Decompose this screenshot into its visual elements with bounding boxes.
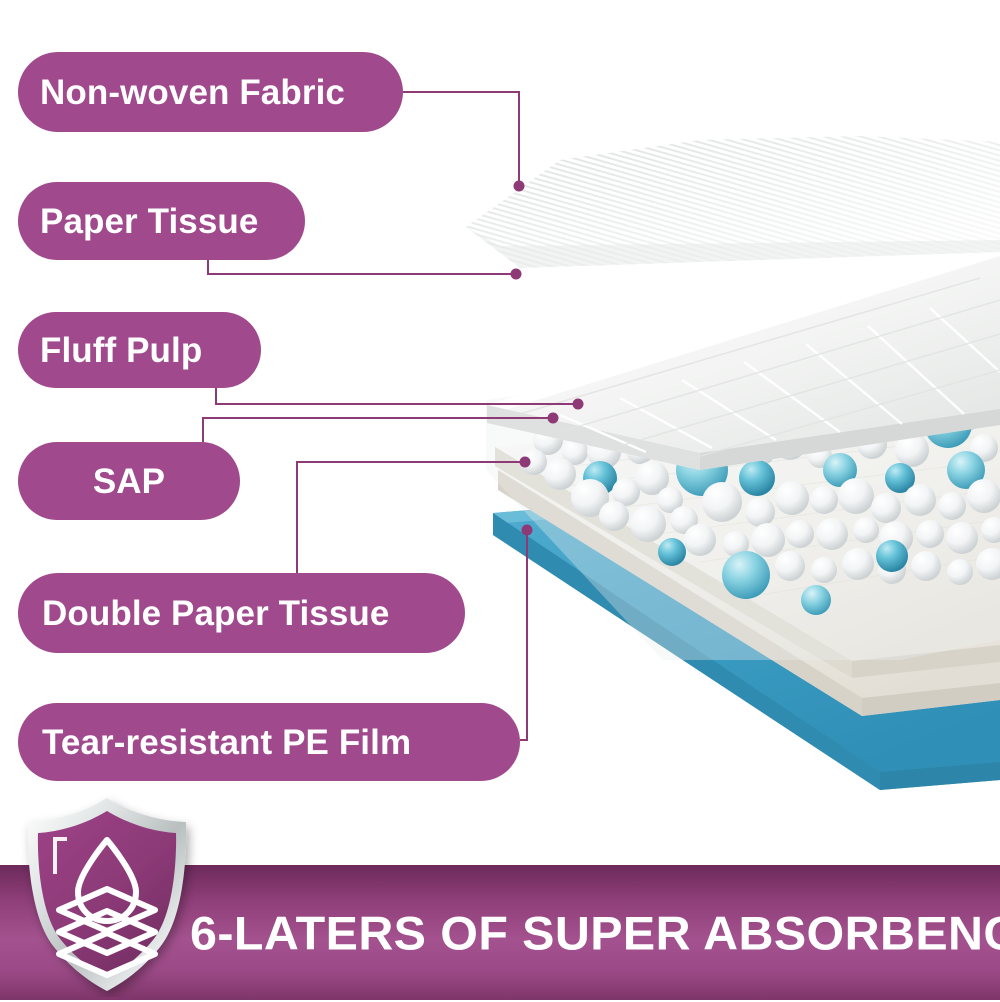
label-text: Tear-resistant PE Film xyxy=(42,725,411,760)
label-text: Double Paper Tissue xyxy=(42,596,389,631)
label-non-woven-fabric[interactable]: Non-woven Fabric xyxy=(18,52,403,132)
label-fluff-pulp[interactable]: Fluff Pulp xyxy=(18,312,261,388)
label-text: Non-woven Fabric xyxy=(40,75,345,110)
label-text: SAP xyxy=(93,464,165,499)
label-text: Fluff Pulp xyxy=(40,333,202,368)
banner-headline: 6-LATERS OF SUPER ABSORBENCY xyxy=(190,905,1000,960)
shield-droplet-layers-icon xyxy=(12,792,202,997)
shield-badge xyxy=(12,792,202,992)
label-double-paper-tissue[interactable]: Double Paper Tissue xyxy=(18,573,465,653)
label-sap[interactable]: SAP xyxy=(18,442,240,520)
diagram-canvas: Non-woven Fabric Paper Tissue Fluff Pulp… xyxy=(0,0,1000,1000)
label-tear-resistant-pe-film[interactable]: Tear-resistant PE Film xyxy=(18,703,520,781)
label-paper-tissue[interactable]: Paper Tissue xyxy=(18,182,305,260)
layer-non-woven-fabric xyxy=(466,136,1000,268)
label-text: Paper Tissue xyxy=(40,204,258,239)
